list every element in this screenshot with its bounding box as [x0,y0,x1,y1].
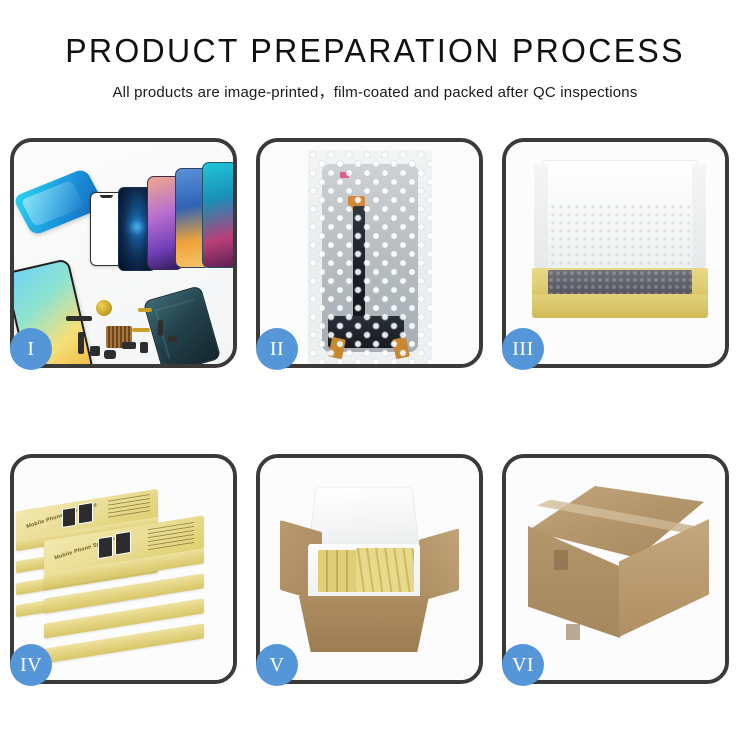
process-step-4[interactable]: Mobile Phone Spare Parts Mobile Phone Sp… [10,454,237,684]
bubble-wrapped-contents [548,270,692,296]
white-foam-lid [542,160,698,276]
step-5-image [260,458,479,680]
box-phone-image-3 [98,536,113,559]
step-3-image [506,142,725,364]
retail-box-stack: Mobile Phone Spare Parts Mobile Phone Sp… [14,458,233,680]
box-spec-lines-1 [108,494,150,521]
teal-phone-icon [202,162,233,268]
process-step-5[interactable]: V [256,454,483,684]
process-step-6[interactable]: VI [502,454,729,684]
battery-connector-icon [140,342,148,353]
box-phone-image-1 [62,507,76,528]
step-6-image [506,458,725,680]
page-header: PRODUCT PREPARATION PROCESS All products… [0,0,750,102]
process-step-1[interactable]: I [10,138,237,368]
box-phone-image-2 [78,502,93,524]
bubble-wrap-bag [308,150,432,364]
process-steps-grid: I II [10,138,740,684]
step-badge-4: IV [10,644,52,686]
power-flex-icon [78,332,84,354]
step-badge-3: III [502,328,544,370]
carton-seam-upper [554,550,568,570]
step-badge-6: VI [502,644,544,686]
yellow-box-front-panel [532,294,708,318]
bubble-texture [308,150,432,364]
product-preparation-process-page: PRODUCT PREPARATION PROCESS All products… [0,0,750,750]
vibrator-icon [122,342,136,349]
carton-seam-lower [566,624,580,640]
foam-box-lid [308,487,420,552]
screw-set-icon [168,336,177,342]
carton-front-panel [290,596,438,652]
speaker-coil-icon [96,300,112,316]
process-step-3[interactable]: III [502,138,729,368]
step-1-image [14,142,233,364]
step-4-image: Mobile Phone Spare Parts Mobile Phone Sp… [14,458,233,680]
gold-flex-icon [138,308,152,312]
box-phone-image-4 [115,531,131,556]
step-badge-1: I [10,328,52,370]
box-spec-lines-2 [148,522,194,551]
page-subtitle: All products are image-printed，film-coat… [0,81,750,102]
gold-connector-icon [132,328,150,332]
foam-texture [550,204,690,272]
yellow-boxes-row-2 [356,548,414,592]
step-2-image [260,142,479,364]
step-badge-5: V [256,644,298,686]
camera-module-icon [104,350,116,359]
antenna-flex-icon [158,320,163,336]
carton-flap-right [419,528,459,601]
sim-tray-icon [90,346,100,356]
process-step-2[interactable]: II [256,138,483,368]
page-title: PRODUCT PREPARATION PROCESS [11,34,739,67]
step-badge-2: II [256,328,298,370]
spare-parts-cluster [74,302,194,364]
earpiece-mesh-icon [66,316,92,321]
